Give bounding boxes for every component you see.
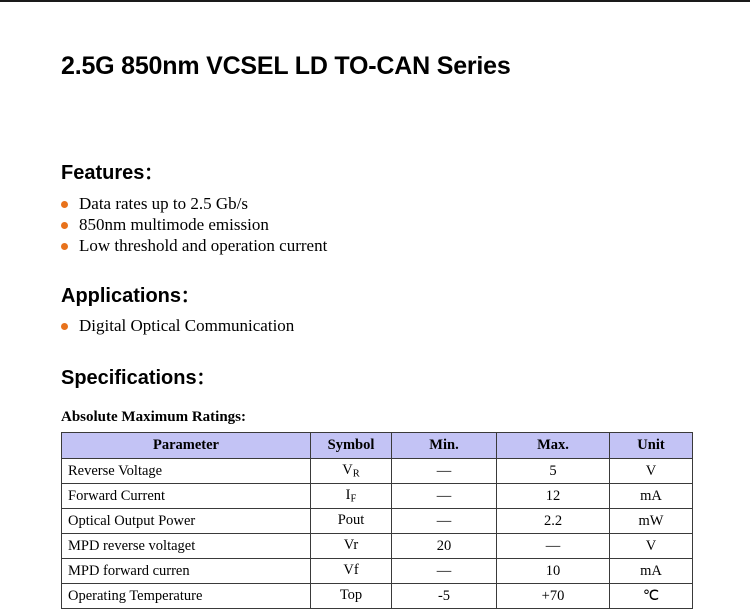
cell-unit: mW — [610, 509, 693, 534]
column-header-unit: Unit — [610, 433, 693, 459]
cell-symbol: Top — [311, 584, 392, 609]
applications-heading: Applications： — [61, 282, 198, 308]
symbol-base: Vr — [344, 537, 358, 553]
table-row: Optical Output Power Pout — 2.2 mW — [62, 509, 693, 534]
cell-symbol: IF — [311, 484, 392, 509]
cell-symbol: Vf — [311, 559, 392, 584]
list-item: 850nm multimode emission — [61, 214, 327, 235]
features-heading-text: Features — [61, 162, 144, 184]
page-title: 2.5G 850nm VCSEL LD TO-CAN Series — [61, 52, 511, 81]
table-row: Reverse Voltage VR — 5 V — [62, 459, 693, 484]
column-header-parameter: Parameter — [62, 433, 311, 459]
features-list: Data rates up to 2.5 Gb/s 850nm multimod… — [61, 193, 327, 256]
table-row: MPD reverse voltaget Vr 20 — V — [62, 534, 693, 559]
absolute-maximum-ratings-label: Absolute Maximum Ratings: — [61, 409, 246, 426]
symbol-base: Top — [340, 587, 362, 603]
cell-min: — — [392, 459, 497, 484]
table-row: Forward Current IF — 12 mA — [62, 484, 693, 509]
list-item: Digital Optical Communication — [61, 315, 294, 336]
cell-min: -5 — [392, 584, 497, 609]
specifications-heading-text: Specifications — [61, 367, 197, 389]
cell-parameter: Operating Temperature — [62, 584, 311, 609]
cell-unit: V — [610, 459, 693, 484]
absolute-maximum-ratings-table: Parameter Symbol Min. Max. Unit Reverse … — [61, 432, 693, 609]
cell-parameter: Forward Current — [62, 484, 311, 509]
symbol-base: Pout — [338, 512, 365, 528]
symbol-base: Vf — [343, 562, 358, 578]
symbol-base: V — [342, 462, 352, 478]
applications-heading-text: Applications — [61, 285, 181, 307]
list-item: Data rates up to 2.5 Gb/s — [61, 193, 327, 214]
cell-parameter: MPD reverse voltaget — [62, 534, 311, 559]
cell-parameter: Optical Output Power — [62, 509, 311, 534]
list-item-label: Data rates up to 2.5 Gb/s — [79, 194, 248, 213]
table-row: Operating Temperature Top -5 +70 ℃ — [62, 584, 693, 609]
list-item-label: 850nm multimode emission — [79, 215, 269, 234]
cell-min: — — [392, 559, 497, 584]
applications-list: Digital Optical Communication — [61, 315, 294, 336]
cell-symbol: VR — [311, 459, 392, 484]
list-item: Low threshold and operation current — [61, 235, 327, 256]
bullet-dot-icon — [61, 222, 68, 229]
applications-heading-colon: ： — [181, 287, 198, 307]
cell-max: 2.2 — [497, 509, 610, 534]
list-item-label: Digital Optical Communication — [79, 316, 294, 335]
list-item-label: Low threshold and operation current — [79, 236, 327, 255]
cell-max: +70 — [497, 584, 610, 609]
features-heading: Features： — [61, 159, 161, 185]
cell-symbol: Pout — [311, 509, 392, 534]
cell-parameter: MPD forward curren — [62, 559, 311, 584]
column-header-max: Max. — [497, 433, 610, 459]
cell-max: 12 — [497, 484, 610, 509]
column-header-min: Min. — [392, 433, 497, 459]
table-header-row: Parameter Symbol Min. Max. Unit — [62, 433, 693, 459]
cell-max: — — [497, 534, 610, 559]
datasheet-page: 2.5G 850nm VCSEL LD TO-CAN Series Featur… — [0, 0, 750, 602]
symbol-subscript: F — [351, 494, 357, 505]
cell-parameter: Reverse Voltage — [62, 459, 311, 484]
cell-min: — — [392, 484, 497, 509]
bullet-dot-icon — [61, 243, 68, 250]
cell-unit: V — [610, 534, 693, 559]
column-header-symbol: Symbol — [311, 433, 392, 459]
cell-symbol: Vr — [311, 534, 392, 559]
cell-max: 5 — [497, 459, 610, 484]
specifications-heading-colon: ： — [197, 369, 214, 389]
cell-unit: mA — [610, 559, 693, 584]
cell-unit: ℃ — [610, 584, 693, 609]
bullet-dot-icon — [61, 201, 68, 208]
table-row: MPD forward curren Vf — 10 mA — [62, 559, 693, 584]
bullet-dot-icon — [61, 323, 68, 330]
cell-max: 10 — [497, 559, 610, 584]
cell-unit: mA — [610, 484, 693, 509]
features-heading-colon: ： — [144, 164, 161, 184]
cell-min: — — [392, 509, 497, 534]
specifications-heading: Specifications： — [61, 364, 214, 390]
cell-min: 20 — [392, 534, 497, 559]
symbol-subscript: R — [353, 469, 360, 480]
